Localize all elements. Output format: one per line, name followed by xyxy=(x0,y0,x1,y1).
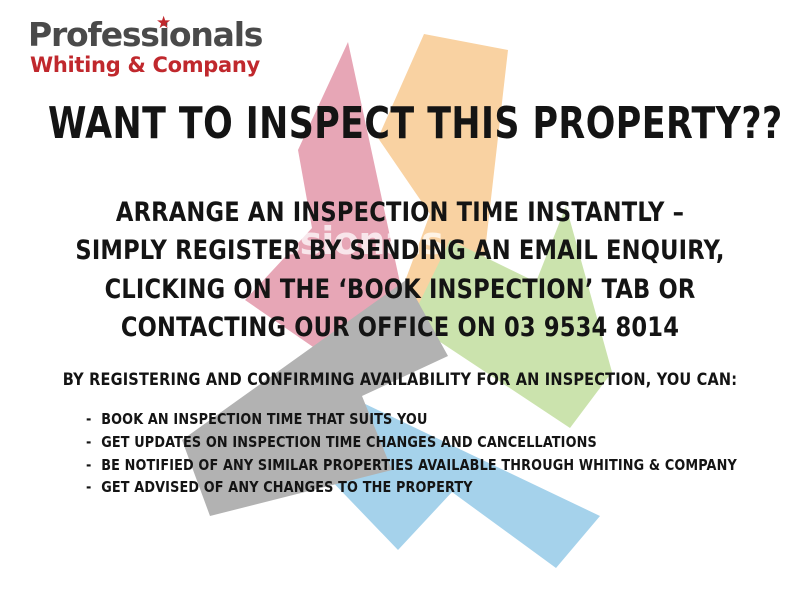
bullet-marker: - xyxy=(86,476,101,499)
inspection-flyer: Professionals ★ Professionals Whiting & … xyxy=(0,0,800,600)
lead-paragraph: ARRANGE AN INSPECTION TIME INSTANTLY – S… xyxy=(71,194,729,347)
list-item-label: BE NOTIFIED OF ANY SIMILAR PROPERTIES AV… xyxy=(101,456,737,474)
bullet-marker: - xyxy=(86,408,101,431)
page-title: WANT TO INSPECT THIS PROPERTY?? xyxy=(48,98,752,149)
bullet-marker: - xyxy=(86,454,101,477)
logo-office-text: Whiting & Company xyxy=(30,52,262,78)
list-item: -BE NOTIFIED OF ANY SIMILAR PROPERTIES A… xyxy=(86,454,742,477)
logo-brand-text: Professionals xyxy=(28,15,262,54)
bullet-marker: - xyxy=(86,431,101,454)
list-item: -GET ADVISED OF ANY CHANGES TO THE PROPE… xyxy=(86,476,742,499)
flyer-content: WANT TO INSPECT THIS PROPERTY?? ARRANGE … xyxy=(0,0,800,600)
list-item: -BOOK AN INSPECTION TIME THAT SUITS YOU xyxy=(86,408,742,431)
list-item: -GET UPDATES ON INSPECTION TIME CHANGES … xyxy=(86,431,742,454)
benefits-subheading: BY REGISTERING AND CONFIRMING AVAILABILI… xyxy=(58,370,742,390)
agency-logo: ★ Professionals Whiting & Company xyxy=(28,18,262,78)
list-item-label: GET ADVISED OF ANY CHANGES TO THE PROPER… xyxy=(101,478,472,496)
benefits-list: -BOOK AN INSPECTION TIME THAT SUITS YOU … xyxy=(86,408,776,499)
logo-star-icon: ★ xyxy=(156,15,170,32)
list-item-label: BOOK AN INSPECTION TIME THAT SUITS YOU xyxy=(101,410,427,428)
logo-wordmark-wrap: ★ Professionals xyxy=(28,18,262,52)
list-item-label: GET UPDATES ON INSPECTION TIME CHANGES A… xyxy=(101,433,597,451)
